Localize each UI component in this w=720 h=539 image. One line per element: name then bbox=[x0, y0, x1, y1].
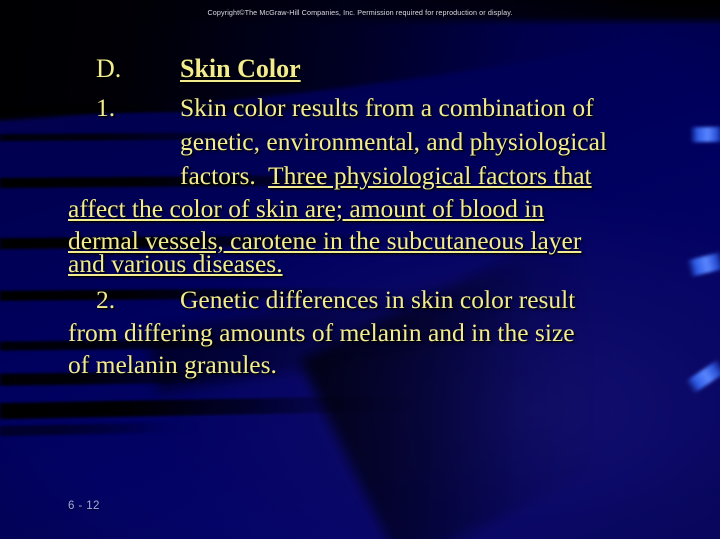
heading-letter: D. bbox=[96, 56, 180, 82]
list-item-2-number: 2. bbox=[96, 287, 180, 313]
slide-heading: D.Skin Color bbox=[96, 56, 301, 82]
copyright-notice: Copyright©The McGraw-Hill Companies, Inc… bbox=[0, 8, 720, 17]
list-item-1-line-4: affect the color of skin are; amount of … bbox=[68, 196, 544, 222]
slide-canvas: Copyright©The McGraw-Hill Companies, Inc… bbox=[0, 0, 720, 539]
page-title: Skin Color bbox=[180, 54, 301, 83]
list-item-1-text-2: genetic, environmental, and physiologica… bbox=[180, 127, 607, 156]
list-item-2-line-2: from differing amounts of melanin and in… bbox=[68, 320, 575, 346]
list-item-1-line-2: genetic, environmental, and physiologica… bbox=[180, 129, 607, 155]
list-item-1-line-3: factors. Three physiological factors tha… bbox=[180, 163, 592, 189]
list-item-2-text-1: Genetic differences in skin color result bbox=[180, 285, 575, 314]
list-item-1-line-6: and various diseases. bbox=[68, 251, 283, 277]
list-item-1-text-3: factors. bbox=[180, 161, 268, 190]
list-item-1-text-4-underlined: Three physiological factors that bbox=[268, 161, 592, 190]
list-item-2-text-3: of melanin granules. bbox=[68, 350, 277, 379]
page-number: 6 - 12 bbox=[68, 500, 100, 512]
list-item-2-text-2: from differing amounts of melanin and in… bbox=[68, 318, 575, 347]
list-item-2-line-3: of melanin granules. bbox=[68, 352, 277, 378]
list-item-1-text-7-underlined: and various diseases. bbox=[68, 249, 283, 278]
list-item-2-line-1: 2.Genetic differences in skin color resu… bbox=[96, 287, 575, 313]
list-item-1-text-1: Skin color results from a combination of bbox=[180, 93, 594, 122]
accent-streak-icon bbox=[690, 127, 720, 143]
list-item-1-line-1: 1.Skin color results from a combination … bbox=[96, 95, 594, 121]
list-item-1-text-5-underlined: affect the color of skin are; amount of … bbox=[68, 194, 544, 223]
list-item-1-number: 1. bbox=[96, 95, 180, 121]
